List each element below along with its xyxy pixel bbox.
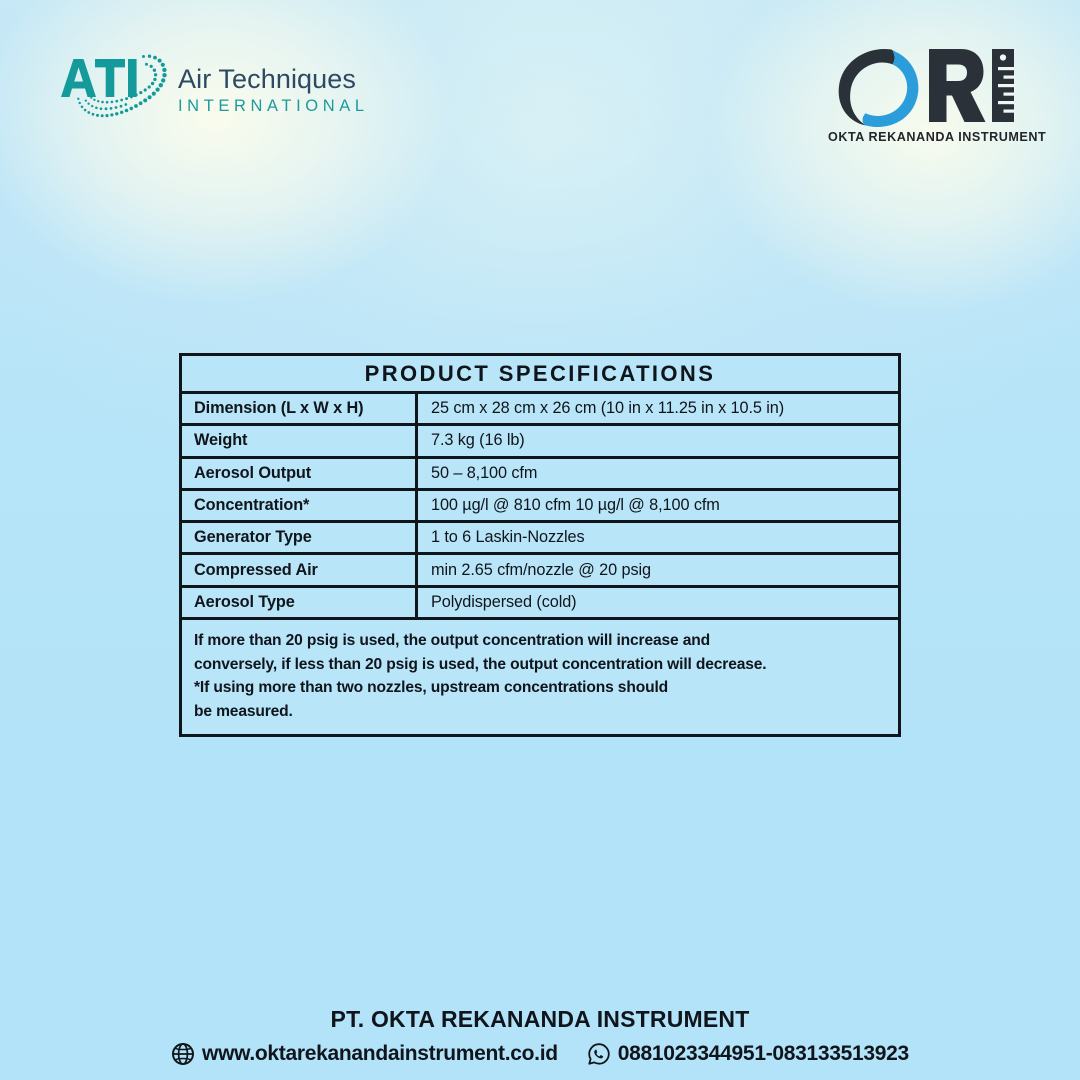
footer-contact-row: www.oktarekanandainstrument.co.id 088102… <box>0 1042 1080 1066</box>
ati-logo-mark <box>58 44 170 136</box>
footer: PT. OKTA REKANANDA INSTRUMENT www.oktare… <box>0 1006 1080 1066</box>
ori-mark-icon <box>828 42 1023 130</box>
spec-label: Generator Type <box>182 523 418 552</box>
ori-logo: OKTA REKANANDA INSTRUMENT <box>828 42 1023 152</box>
table-row: Dimension (L x W x H) 25 cm x 28 cm x 26… <box>182 394 898 426</box>
table-row: Aerosol Output 50 – 8,100 cfm <box>182 459 898 491</box>
spec-label: Weight <box>182 426 418 455</box>
spec-value: 100 µg/l @ 810 cfm 10 µg/l @ 8,100 cfm <box>418 491 898 520</box>
spec-label: Aerosol Output <box>182 459 418 488</box>
spec-label: Compressed Air <box>182 555 418 584</box>
footer-phone-text: 0881023344951-083133513923 <box>618 1042 909 1066</box>
ori-logo-caption: OKTA REKANANDA INSTRUMENT <box>828 130 1023 144</box>
footnote-line: be measured. <box>194 700 886 724</box>
spec-label: Concentration* <box>182 491 418 520</box>
table-row: Weight 7.3 kg (16 lb) <box>182 426 898 458</box>
product-specifications-table: PRODUCT SPECIFICATIONS Dimension (L x W … <box>179 353 901 737</box>
header: Air Techniques INTERNATIONAL <box>0 0 1080 180</box>
footer-phone-group[interactable]: 0881023344951-083133513923 <box>587 1042 909 1066</box>
footnote-line: If more than 20 psig is used, the output… <box>194 629 886 653</box>
whatsapp-icon <box>587 1042 611 1066</box>
table-header-row: PRODUCT SPECIFICATIONS <box>182 356 898 394</box>
spec-value: 50 – 8,100 cfm <box>418 459 898 488</box>
ati-logo: Air Techniques INTERNATIONAL <box>58 45 369 135</box>
ati-name-line1: Air Techniques <box>178 66 369 93</box>
footer-website-group[interactable]: www.oktarekanandainstrument.co.id <box>171 1042 558 1066</box>
ati-wordmark: Air Techniques INTERNATIONAL <box>178 66 369 115</box>
ati-mark-icon <box>58 44 170 136</box>
table-footnote: If more than 20 psig is used, the output… <box>182 620 898 734</box>
spec-value: 1 to 6 Laskin-Nozzles <box>418 523 898 552</box>
footnote-line: conversely, if less than 20 psig is used… <box>194 653 886 677</box>
spec-value: 7.3 kg (16 lb) <box>418 426 898 455</box>
table-row: Concentration* 100 µg/l @ 810 cfm 10 µg/… <box>182 491 898 523</box>
poster-canvas: Air Techniques INTERNATIONAL <box>0 0 1080 1080</box>
spec-label: Dimension (L x W x H) <box>182 394 418 423</box>
footer-website-text: www.oktarekanandainstrument.co.id <box>202 1042 558 1066</box>
globe-icon <box>171 1042 195 1066</box>
spec-value: 25 cm x 28 cm x 26 cm (10 in x 11.25 in … <box>418 394 898 423</box>
spec-label: Aerosol Type <box>182 588 418 617</box>
ati-name-line2: INTERNATIONAL <box>178 98 369 115</box>
footer-company-name: PT. OKTA REKANANDA INSTRUMENT <box>0 1006 1080 1034</box>
spec-value: min 2.65 cfm/nozzle @ 20 psig <box>418 555 898 584</box>
spec-value: Polydispersed (cold) <box>418 588 898 617</box>
table-row: Compressed Air min 2.65 cfm/nozzle @ 20 … <box>182 555 898 587</box>
table-row: Aerosol Type Polydispersed (cold) <box>182 588 898 620</box>
table-row: Generator Type 1 to 6 Laskin-Nozzles <box>182 523 898 555</box>
table-title: PRODUCT SPECIFICATIONS <box>365 361 716 387</box>
ori-logo-mark <box>828 42 1023 130</box>
footnote-line: *If using more than two nozzles, upstrea… <box>194 676 886 700</box>
